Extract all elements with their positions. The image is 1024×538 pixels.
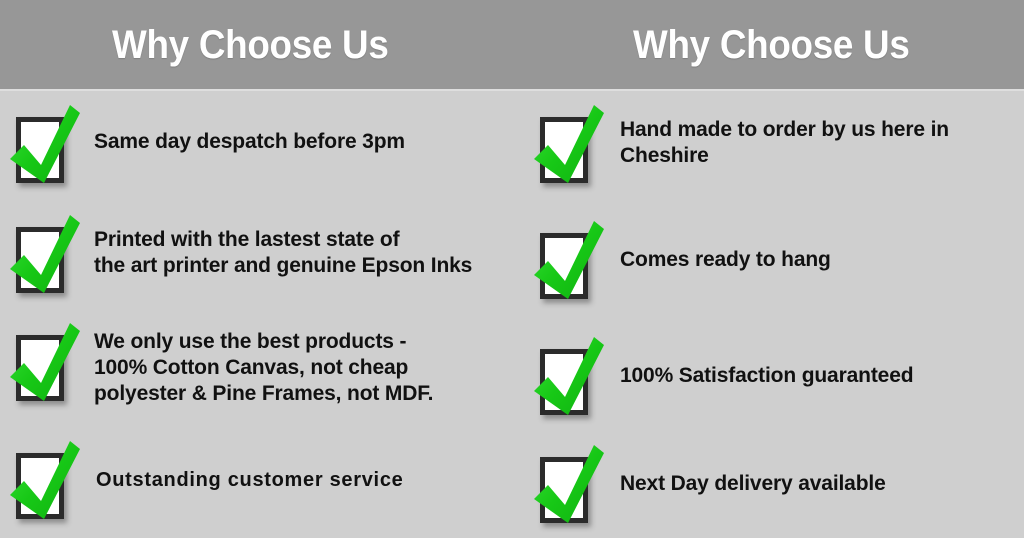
list-item: 100% Satisfaction guaranteed [532, 335, 913, 423]
green-check-box-icon [532, 219, 606, 307]
green-check-box-icon [8, 439, 82, 527]
check-mark-icon [532, 103, 606, 191]
green-check-box-icon [8, 321, 82, 409]
list-item: Printed with the lastest state of the ar… [8, 213, 472, 301]
list-item-label: Outstanding customer service [96, 467, 403, 493]
check-mark-icon [8, 103, 82, 191]
green-check-box-icon [8, 213, 82, 301]
green-check-box-icon [532, 335, 606, 423]
header-band: Why Choose Us Why Choose Us [0, 0, 1024, 89]
check-mark-icon [8, 321, 82, 409]
list-item: Comes ready to hang [532, 219, 831, 307]
left-feature-column: Same day despatch before 3pm [0, 91, 512, 538]
header-cell-right: Why Choose Us [512, 0, 1024, 89]
list-item: Hand made to order by us here in Cheshir… [532, 103, 949, 191]
list-item-label: We only use the best products - 100% Cot… [94, 329, 433, 407]
feature-columns: Same day despatch before 3pm [0, 91, 1024, 538]
check-mark-icon [532, 335, 606, 423]
green-check-box-icon [532, 103, 606, 191]
list-item: We only use the best products - 100% Cot… [8, 321, 433, 409]
check-mark-icon [532, 443, 606, 531]
check-mark-icon [532, 219, 606, 307]
green-check-box-icon [532, 443, 606, 531]
list-item-label: Next Day delivery available [620, 471, 886, 497]
list-item-label: Comes ready to hang [620, 247, 831, 273]
page-title-right: Why Choose Us [633, 25, 910, 65]
header-cell-left: Why Choose Us [0, 0, 512, 89]
list-item-label: Hand made to order by us here in Cheshir… [620, 117, 949, 169]
list-item-label: 100% Satisfaction guaranteed [620, 363, 913, 389]
green-check-box-icon [8, 103, 82, 191]
list-item-label: Same day despatch before 3pm [94, 129, 405, 155]
why-choose-us-banner: Why Choose Us Why Choose Us [0, 0, 1024, 538]
list-item: Next Day delivery available [532, 443, 886, 531]
right-feature-column: Hand made to order by us here in Cheshir… [512, 91, 1024, 538]
list-item-label: Printed with the lastest state of the ar… [94, 227, 472, 279]
list-item: Same day despatch before 3pm [8, 103, 405, 191]
page-title-left: Why Choose Us [112, 25, 389, 65]
check-mark-icon [8, 439, 82, 527]
list-item: Outstanding customer service [8, 439, 403, 527]
check-mark-icon [8, 213, 82, 301]
